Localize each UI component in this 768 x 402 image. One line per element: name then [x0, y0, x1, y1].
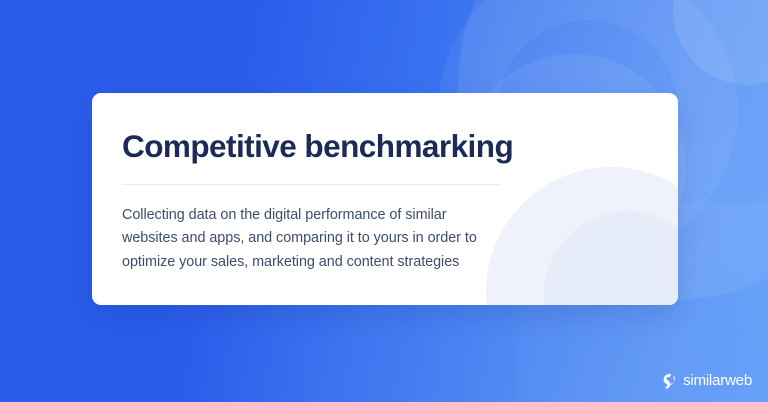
card-description-line-1: Collecting data on the digital performan…: [122, 204, 534, 227]
content-card: Competitive benchmarking Collecting data…: [92, 93, 678, 305]
background-circle-small: [673, 0, 768, 85]
similarweb-swirl-icon: [661, 373, 677, 389]
card-title: Competitive benchmarking: [122, 130, 678, 163]
card-divider: [122, 184, 500, 185]
card-content: Competitive benchmarking Collecting data…: [92, 93, 678, 274]
similarweb-wordmark: similarweb: [683, 373, 752, 388]
card-description-line-3: optimize your sales, marketing and conte…: [122, 251, 534, 274]
similarweb-logo: similarweb: [661, 373, 752, 389]
slide-canvas: Competitive benchmarking Collecting data…: [0, 0, 768, 402]
card-description-line-2: websites and apps, and comparing it to y…: [122, 227, 534, 250]
card-description: Collecting data on the digital performan…: [122, 204, 534, 274]
